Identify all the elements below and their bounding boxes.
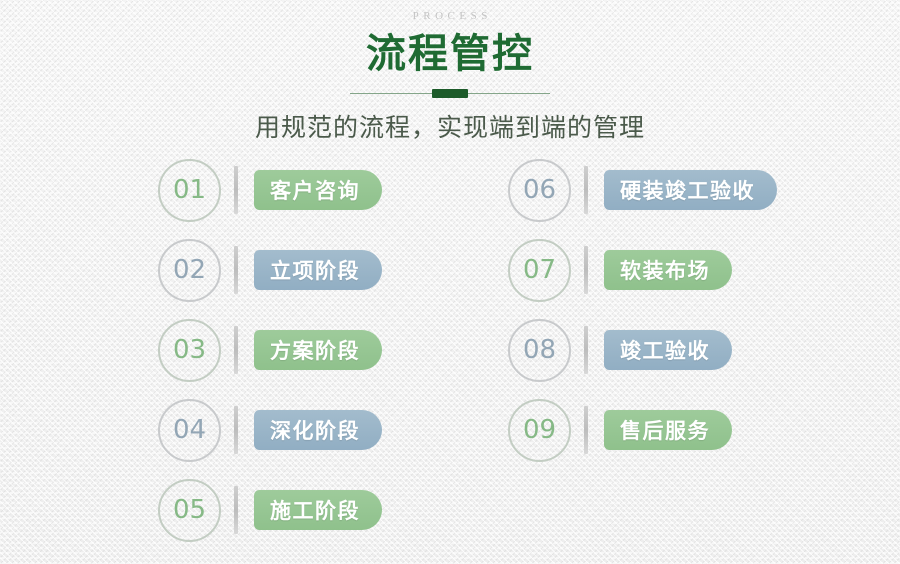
step-number-circle: 09 [508, 399, 571, 462]
step-label-pill[interactable]: 立项阶段 [254, 250, 382, 290]
step-number-circle: 03 [158, 319, 221, 382]
step-number-circle: 08 [508, 319, 571, 382]
step-number-circle: 06 [508, 159, 571, 222]
step-number-label: 02 [173, 257, 206, 283]
step-number-circle: 04 [158, 399, 221, 462]
step-item-05[interactable]: 05施工阶段 [158, 470, 382, 550]
step-label-pill[interactable]: 售后服务 [604, 410, 732, 450]
step-label-pill[interactable]: 深化阶段 [254, 410, 382, 450]
step-divider-bar [584, 246, 588, 294]
page-title: 流程管控 [0, 27, 900, 81]
step-number-circle: 07 [508, 239, 571, 302]
step-divider-bar [584, 166, 588, 214]
step-item-01[interactable]: 01客户咨询 [158, 150, 382, 230]
step-number-label: 05 [173, 497, 206, 523]
step-divider-bar [234, 406, 238, 454]
step-label-pill[interactable]: 施工阶段 [254, 490, 382, 530]
divider-bar [432, 89, 468, 98]
step-item-04[interactable]: 04深化阶段 [158, 390, 382, 470]
step-item-08[interactable]: 08竣工验收 [508, 310, 777, 390]
step-divider-bar [234, 246, 238, 294]
steps-column-left: 01客户咨询02立项阶段03方案阶段04深化阶段05施工阶段 [158, 150, 382, 550]
step-label-pill[interactable]: 客户咨询 [254, 170, 382, 210]
step-number-circle: 05 [158, 479, 221, 542]
header: PROCESS 流程管控 用规范的流程，实现端到端的管理 [0, 0, 900, 145]
step-item-09[interactable]: 09售后服务 [508, 390, 777, 470]
steps-column-right: 06硬装竣工验收07软装布场08竣工验收09售后服务 [508, 150, 777, 470]
step-item-03[interactable]: 03方案阶段 [158, 310, 382, 390]
step-divider-bar [234, 166, 238, 214]
page-subtitle: 用规范的流程，实现端到端的管理 [0, 111, 900, 145]
step-number-circle: 01 [158, 159, 221, 222]
step-label-pill[interactable]: 竣工验收 [604, 330, 732, 370]
step-label-pill[interactable]: 软装布场 [604, 250, 732, 290]
eyebrow-label: PROCESS [0, 9, 900, 23]
step-number-label: 01 [173, 177, 206, 203]
step-label-pill[interactable]: 硬装竣工验收 [604, 170, 777, 210]
step-item-06[interactable]: 06硬装竣工验收 [508, 150, 777, 230]
step-number-circle: 02 [158, 239, 221, 302]
step-number-label: 09 [523, 417, 556, 443]
step-item-02[interactable]: 02立项阶段 [158, 230, 382, 310]
step-number-label: 04 [173, 417, 206, 443]
step-divider-bar [234, 326, 238, 374]
step-number-label: 03 [173, 337, 206, 363]
step-number-label: 08 [523, 337, 556, 363]
step-divider-bar [584, 406, 588, 454]
step-divider-bar [234, 486, 238, 534]
step-label-pill[interactable]: 方案阶段 [254, 330, 382, 370]
title-divider [350, 87, 550, 101]
step-number-label: 07 [523, 257, 556, 283]
process-infographic: PROCESS 流程管控 用规范的流程，实现端到端的管理 01客户咨询02立项阶… [0, 0, 900, 564]
step-divider-bar [584, 326, 588, 374]
step-number-label: 06 [523, 177, 556, 203]
step-item-07[interactable]: 07软装布场 [508, 230, 777, 310]
